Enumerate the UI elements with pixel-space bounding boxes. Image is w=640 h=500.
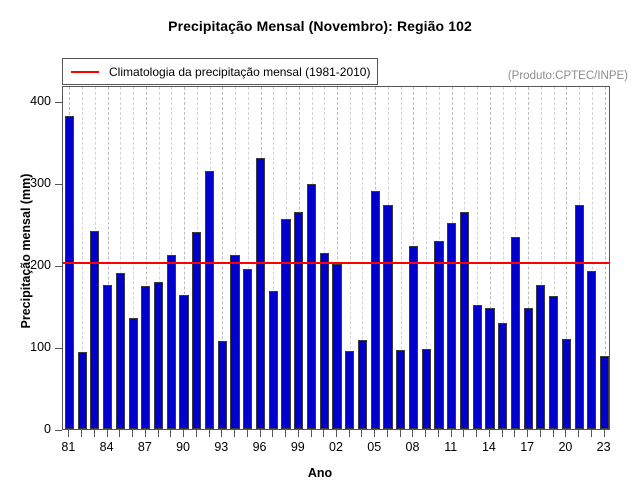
bar-1983 <box>90 231 99 429</box>
bar-1985 <box>116 273 125 429</box>
bar-2012 <box>460 212 469 429</box>
plot-inner <box>63 87 609 429</box>
bar-2001 <box>320 253 329 429</box>
y-tick-label: 100 <box>9 341 51 354</box>
y-tick-label: 400 <box>9 95 51 108</box>
bar-1996 <box>256 158 265 429</box>
bar-1981 <box>65 116 74 429</box>
bar-2005 <box>371 191 380 429</box>
x-tick-mark <box>298 430 299 437</box>
bar-1986 <box>129 318 138 429</box>
bar-2007 <box>396 350 405 429</box>
x-tick-label: 11 <box>431 441 471 454</box>
legend-label: Climatologia da precipitação mensal (198… <box>109 65 370 79</box>
x-tick-mark <box>107 430 108 437</box>
bar-2023 <box>600 356 609 429</box>
y-tick-mark <box>55 430 62 431</box>
x-tick-label: 20 <box>545 441 585 454</box>
x-tick-mark <box>81 430 82 437</box>
x-tick-mark <box>387 430 388 437</box>
bar-1984 <box>103 285 112 429</box>
precipitation-bar-chart: Precipitação Mensal (Novembro): Região 1… <box>0 0 640 500</box>
climatology-reference-line <box>63 262 609 264</box>
bar-2017 <box>524 308 533 429</box>
y-tick-mark <box>55 184 62 185</box>
x-tick-mark <box>527 430 528 437</box>
y-tick-mark <box>55 266 62 267</box>
x-tick-mark <box>119 430 120 437</box>
x-tick-label: 96 <box>240 441 280 454</box>
bar-2019 <box>549 296 558 430</box>
y-tick-label: 300 <box>9 177 51 190</box>
bar-2015 <box>498 323 507 429</box>
y-tick-mark <box>55 102 62 103</box>
x-tick-label: 84 <box>87 441 127 454</box>
bar-2021 <box>575 205 584 429</box>
bar-1989 <box>167 255 176 429</box>
x-tick-mark <box>285 430 286 437</box>
x-tick-mark <box>374 430 375 437</box>
x-tick-label: 90 <box>163 441 203 454</box>
y-tick-label: 0 <box>9 423 51 436</box>
x-tick-label: 08 <box>392 441 432 454</box>
x-tick-label: 99 <box>278 441 318 454</box>
bar-2008 <box>409 246 418 429</box>
x-tick-mark <box>234 430 235 437</box>
y-tick-mark <box>55 348 62 349</box>
x-tick-mark <box>502 430 503 437</box>
bar-1982 <box>78 352 87 429</box>
x-tick-label: 05 <box>354 441 394 454</box>
bar-2016 <box>511 237 520 429</box>
x-tick-mark <box>540 430 541 437</box>
bar-2018 <box>536 285 545 429</box>
bar-1998 <box>281 219 290 429</box>
x-tick-mark <box>183 430 184 437</box>
x-tick-mark <box>451 430 452 437</box>
bar-2003 <box>345 351 354 429</box>
legend-line-swatch <box>71 71 99 73</box>
bar-2000 <box>307 184 316 429</box>
x-tick-mark <box>489 430 490 437</box>
bar-2022 <box>587 271 596 429</box>
bar-1997 <box>269 291 278 429</box>
bar-1995 <box>243 269 252 429</box>
bar-2002 <box>332 264 341 429</box>
x-tick-mark <box>68 430 69 437</box>
bar-2011 <box>447 223 456 429</box>
x-tick-mark <box>349 430 350 437</box>
x-tick-label: 02 <box>316 441 356 454</box>
x-tick-mark <box>158 430 159 437</box>
plot-area <box>62 86 610 430</box>
x-tick-mark <box>578 430 579 437</box>
x-tick-label: 23 <box>584 441 624 454</box>
x-tick-mark <box>604 430 605 437</box>
x-tick-label: 93 <box>201 441 241 454</box>
bar-2014 <box>485 308 494 429</box>
x-tick-mark <box>412 430 413 437</box>
x-tick-mark <box>196 430 197 437</box>
x-tick-mark <box>438 430 439 437</box>
x-tick-mark <box>361 430 362 437</box>
bar-1999 <box>294 212 303 429</box>
y-axis-title: Precipitação mensal (mm) <box>19 131 33 371</box>
x-tick-mark <box>463 430 464 437</box>
bar-1992 <box>205 171 214 429</box>
bar-1994 <box>230 255 239 429</box>
x-tick-mark <box>336 430 337 437</box>
x-tick-mark <box>323 430 324 437</box>
bar-2010 <box>434 241 443 429</box>
bar-2020 <box>562 339 571 429</box>
bar-2006 <box>383 205 392 429</box>
product-attribution: (Produto:CPTEC/INPE) <box>508 70 628 82</box>
legend: Climatologia da precipitação mensal (198… <box>62 58 378 85</box>
x-tick-mark <box>260 430 261 437</box>
x-tick-mark <box>400 430 401 437</box>
x-tick-label: 14 <box>469 441 509 454</box>
bar-1988 <box>154 282 163 429</box>
x-tick-mark <box>311 430 312 437</box>
x-tick-mark <box>425 430 426 437</box>
x-tick-mark <box>247 430 248 437</box>
x-tick-mark <box>476 430 477 437</box>
x-tick-mark <box>209 430 210 437</box>
x-tick-label: 87 <box>125 441 165 454</box>
x-axis-title: Ano <box>0 466 640 480</box>
x-tick-label: 81 <box>48 441 88 454</box>
bar-1993 <box>218 341 227 429</box>
y-tick-label: 200 <box>9 259 51 272</box>
chart-title: Precipitação Mensal (Novembro): Região 1… <box>0 18 640 34</box>
x-tick-mark <box>94 430 95 437</box>
x-tick-mark <box>221 430 222 437</box>
x-tick-label: 17 <box>507 441 547 454</box>
bar-1990 <box>179 295 188 429</box>
x-tick-mark <box>591 430 592 437</box>
x-tick-mark <box>553 430 554 437</box>
x-tick-mark <box>514 430 515 437</box>
x-tick-mark <box>145 430 146 437</box>
bar-2009 <box>422 349 431 429</box>
x-tick-mark <box>565 430 566 437</box>
x-tick-mark <box>272 430 273 437</box>
x-tick-mark <box>170 430 171 437</box>
bar-2004 <box>358 340 367 429</box>
bar-2013 <box>473 305 482 429</box>
x-tick-mark <box>132 430 133 437</box>
bar-1987 <box>141 286 150 429</box>
